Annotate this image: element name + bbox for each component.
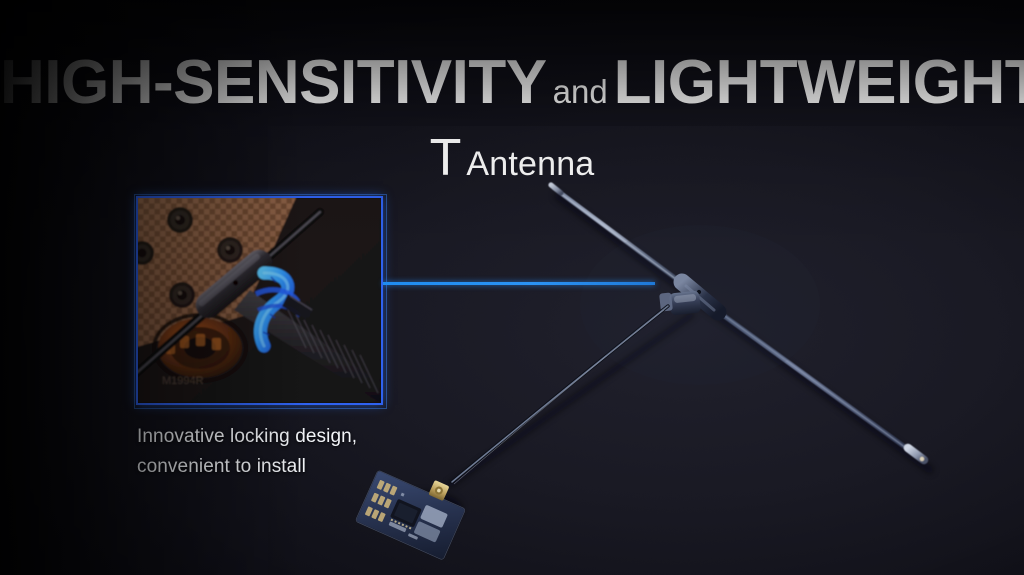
subtitle-word: Antenna <box>461 145 594 183</box>
inset-locking-design-photo: M1994R <box>136 196 383 405</box>
headline-part1: HIGH-SENSITIVITY <box>0 48 547 117</box>
product-banner: M1994R HIGH-SENSITIVITYandLIGHTWEIGHT TA… <box>0 0 1024 575</box>
inset-caption: Innovative locking design, convenient to… <box>137 422 357 482</box>
inset-caption-line1: Innovative locking design, <box>137 422 357 452</box>
page-subtitle: TAntenna <box>0 132 1024 184</box>
inset-caption-line2: convenient to install <box>137 452 357 482</box>
headline-conjunction: and <box>547 73 614 110</box>
leader-line <box>383 282 655 285</box>
subtitle-letter: T <box>430 129 462 187</box>
headline-part2: LIGHTWEIGHT <box>614 48 1024 117</box>
inset-photo-artwork: M1994R <box>138 198 381 403</box>
page-title: HIGH-SENSITIVITYandLIGHTWEIGHT <box>0 52 1024 114</box>
